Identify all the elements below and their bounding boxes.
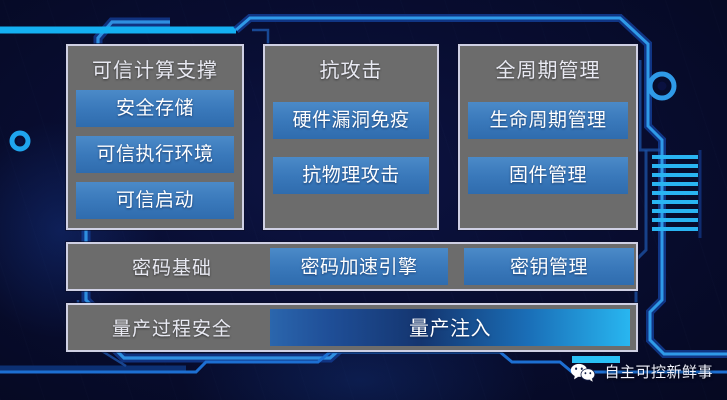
diagram-canvas: 可信计算支撑 安全存储 可信执行环境 可信启动 抗攻击 硬件漏洞免疫 抗物理攻击… [0, 0, 727, 400]
chip-trusted-execution-environment[interactable]: 可信执行环境 [76, 136, 234, 173]
chip-physical-attack-resistance[interactable]: 抗物理攻击 [273, 157, 429, 194]
panel-title: 可信计算支撑 [92, 57, 218, 83]
chip-trusted-boot[interactable]: 可信启动 [76, 182, 234, 219]
panel-trusted-computing[interactable]: 可信计算支撑 安全存储 可信执行环境 可信启动 [66, 44, 244, 230]
diagram-content: 可信计算支撑 安全存储 可信执行环境 可信启动 抗攻击 硬件漏洞免疫 抗物理攻击… [66, 44, 638, 354]
row-crypto-foundation[interactable]: 密码基础 密码加速引擎 密钥管理 [66, 242, 638, 291]
panel-title: 抗攻击 [320, 57, 383, 83]
chip-key-management[interactable]: 密钥管理 [464, 248, 634, 285]
chip-production-injection[interactable]: 量产注入 [270, 309, 630, 346]
chip-hardware-vulnerability-immunity[interactable]: 硬件漏洞免疫 [273, 102, 429, 139]
row-label-production-security: 量产过程安全 [74, 314, 270, 341]
watermark-text: 自主可控新鲜事 [604, 361, 713, 382]
watermark: 自主可控新鲜事 [570, 361, 713, 382]
panel-lifecycle-management[interactable]: 全周期管理 生命周期管理 固件管理 [458, 44, 638, 230]
row-production-security[interactable]: 量产过程安全 量产注入 [66, 303, 638, 352]
chip-lifecycle-management[interactable]: 生命周期管理 [468, 102, 628, 139]
panel-attack-resistance[interactable]: 抗攻击 硬件漏洞免疫 抗物理攻击 [263, 44, 439, 230]
chip-firmware-management[interactable]: 固件管理 [468, 157, 628, 194]
chip-secure-storage[interactable]: 安全存储 [76, 90, 234, 127]
row-label-crypto-foundation: 密码基础 [74, 253, 270, 280]
panel-title: 全周期管理 [496, 57, 601, 83]
wechat-icon [570, 362, 596, 382]
top-columns: 可信计算支撑 安全存储 可信执行环境 可信启动 抗攻击 硬件漏洞免疫 抗物理攻击… [66, 44, 638, 230]
chip-crypto-acceleration-engine[interactable]: 密码加速引擎 [270, 248, 448, 285]
